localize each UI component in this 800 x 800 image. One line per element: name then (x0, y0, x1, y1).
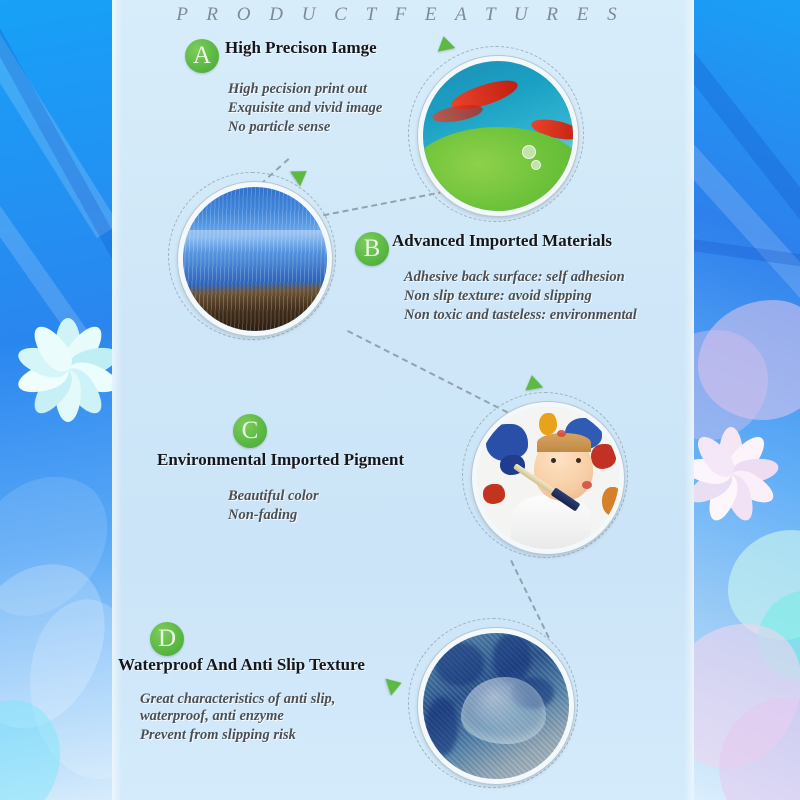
right-decorative-band (688, 0, 800, 800)
headline-c: Environmental Imported Pigment (157, 450, 404, 470)
headline-d: Waterproof And Anti Slip Texture (118, 655, 365, 675)
badge-b: B (355, 232, 389, 266)
blurb-c-line-2: Non-fading (228, 506, 297, 525)
photo-a-koi-fish (418, 56, 578, 216)
center-content-panel (112, 0, 694, 800)
blurb-c-line-1: Beautiful color (228, 487, 319, 506)
blurb-b-line-1: Adhesive back surface: self adhesion (404, 268, 625, 287)
badge-d: D (150, 622, 184, 656)
photo-b-blue-fabric (178, 182, 332, 336)
blurb-a-line-2: Exquisite and vivid image (228, 99, 382, 118)
panel-edge-right (684, 0, 694, 800)
blurb-a-line-3: No particle sense (228, 118, 330, 137)
blurb-d-line-3: Prevent from slipping risk (140, 726, 296, 745)
flower-decoration-left (8, 310, 118, 430)
panel-edge-left (112, 0, 122, 800)
blurb-a-line-1: High pecision print out (228, 80, 367, 99)
blurb-d-line-2: waterproof, anti enzyme (140, 707, 284, 726)
photo-c-baby-painting (472, 402, 624, 554)
badge-c: C (233, 414, 267, 448)
headline-b: Advanced Imported Materials (392, 231, 612, 251)
blurb-b-line-3: Non toxic and tasteless: environmental (404, 306, 637, 325)
blurb-b-line-2: Non slip texture: avoid slipping (404, 287, 592, 306)
headline-a: High Precison Iamge (225, 38, 377, 58)
flower-decoration-right (688, 420, 786, 530)
photo-d-water-droplet (418, 628, 574, 784)
left-decorative-band (0, 0, 118, 800)
page-title: P R O D U C T F E A T U R E S (0, 4, 800, 26)
product-features-poster: P R O D U C T F E A T U R E S A High Pre… (0, 0, 800, 800)
badge-a: A (185, 39, 219, 73)
